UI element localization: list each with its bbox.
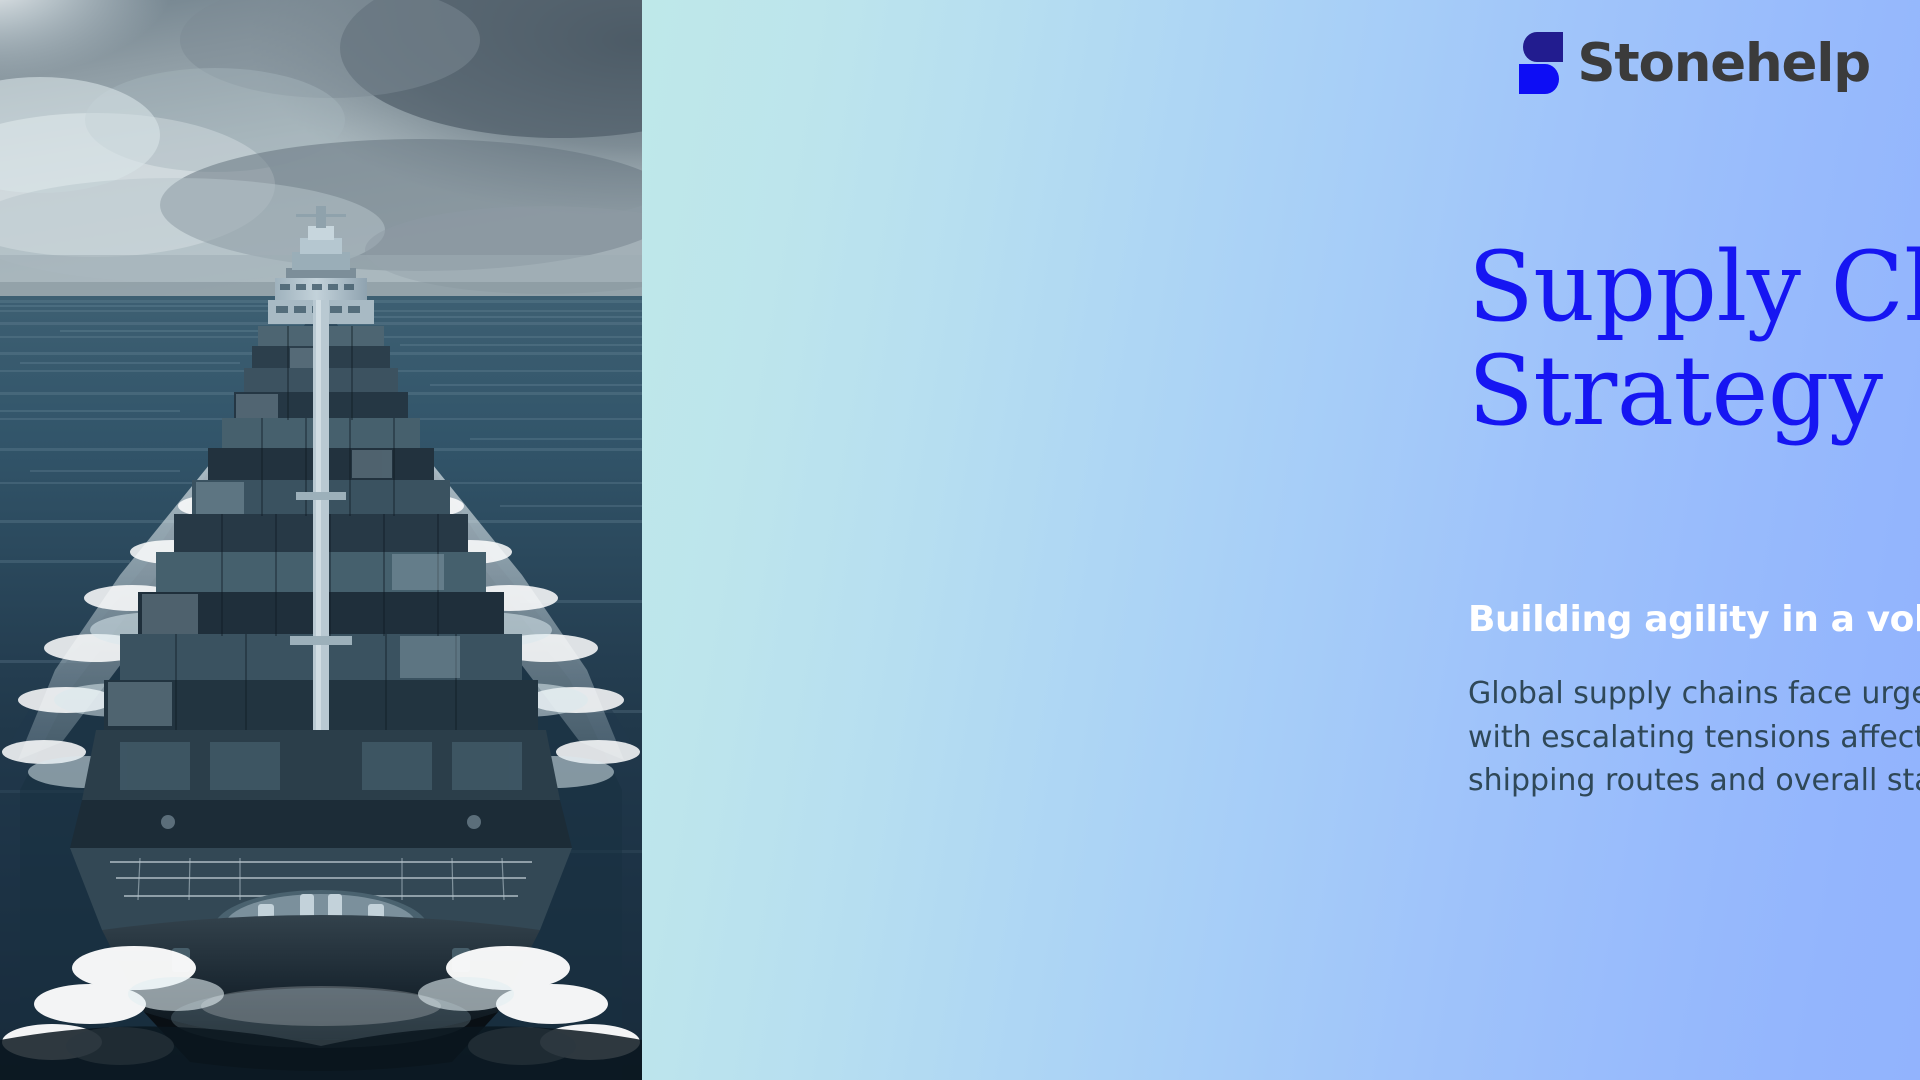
brand-wordmark: Stonehelp [1577,37,1870,90]
page-title: Supply Chains as Strategy [1468,236,1920,443]
body-line-1: Global supply chains face urgent challen… [1468,672,1920,716]
body-line-2: with escalating tensions affecting criti… [1468,716,1920,760]
body-paragraph: Global supply chains face urgent challen… [1468,672,1920,803]
body-line-3: shipping routes and overall stability [1468,759,1920,803]
title-slide: Stonehelp Supply Chains as Strategy Buil… [0,0,1920,1080]
hero-image-container-ship [0,0,642,1080]
container-ship-illustration [0,0,642,1080]
stonehelp-logomark-icon [1519,32,1563,94]
brand-logo[interactable]: Stonehelp [1519,32,1870,94]
content-panel: Stonehelp Supply Chains as Strategy Buil… [642,0,1920,1080]
subtitle: Building agility in a volatile world [1468,598,1920,641]
